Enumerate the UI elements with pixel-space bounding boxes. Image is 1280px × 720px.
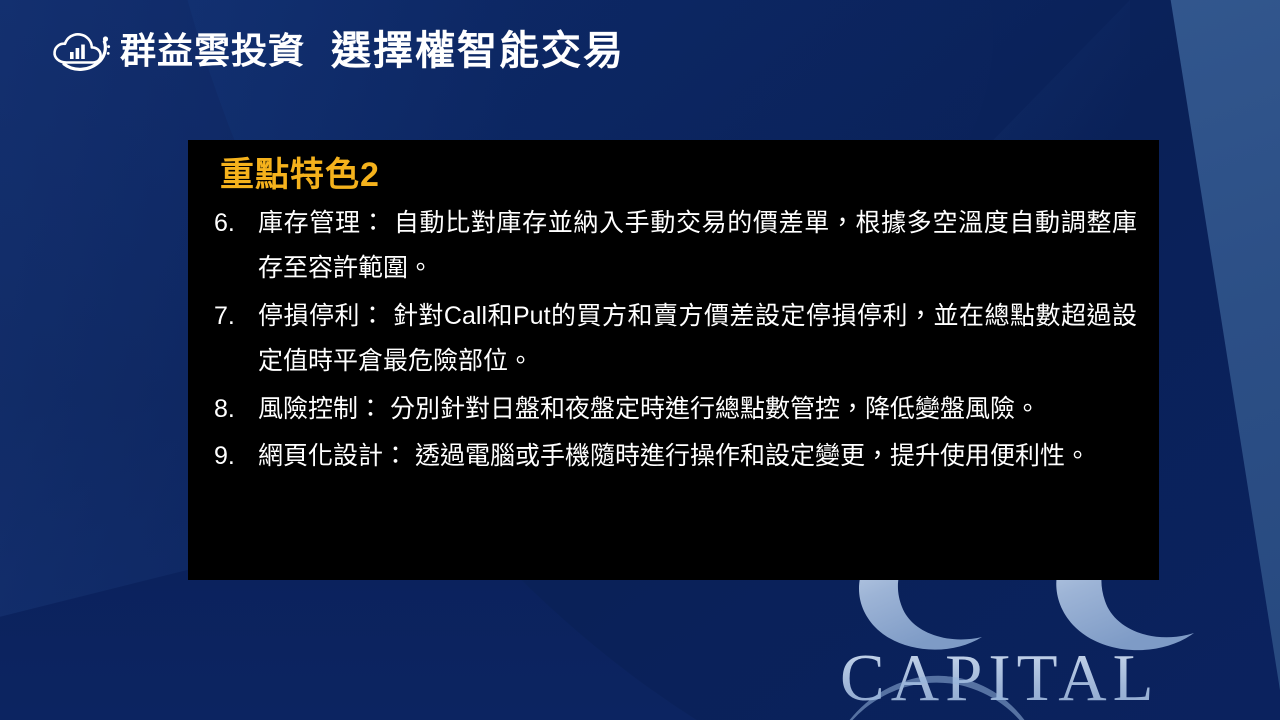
list-item-number: 9.: [206, 434, 258, 480]
card-title: 重點特色2: [220, 154, 1141, 197]
slide: CAPITAL 群益雲投資 選擇權智能交易 重點特色2 6. 庫存管理： 自動比…: [0, 0, 1280, 720]
list-item-text: 停損停利： 針對Call和Put的買方和賣方價差設定停損停利，並在總點數超過設定…: [258, 294, 1141, 385]
list-item: 7. 停損停利： 針對Call和Put的買方和賣方價差設定停損停利，並在總點數超…: [206, 294, 1141, 385]
page-title: 選擇權智能交易: [331, 31, 625, 71]
list-item-number: 8.: [206, 387, 258, 433]
header: 群益雲投資 選擇權智能交易: [52, 18, 625, 84]
feature-list: 6. 庫存管理： 自動比對庫存並納入手動交易的價差單，根據多空溫度自動調整庫存至…: [206, 201, 1141, 480]
list-item-text: 網頁化設計： 透過電腦或手機隨時進行操作和設定變更，提升使用便利性。: [258, 434, 1141, 480]
list-item: 8. 風險控制： 分別針對日盤和夜盤定時進行總點數管控，降低變盤風險。: [206, 387, 1141, 433]
list-item-number: 7.: [206, 294, 258, 340]
brand-name: 群益雲投資: [120, 33, 305, 69]
list-item: 9. 網頁化設計： 透過電腦或手機隨時進行操作和設定變更，提升使用便利性。: [206, 434, 1141, 480]
list-item-number: 6.: [206, 201, 258, 247]
list-item: 6. 庫存管理： 自動比對庫存並納入手動交易的價差單，根據多空溫度自動調整庫存至…: [206, 201, 1141, 292]
list-item-text: 庫存管理： 自動比對庫存並納入手動交易的價差單，根據多空溫度自動調整庫存至容許範…: [258, 201, 1141, 292]
list-item-text: 風險控制： 分別針對日盤和夜盤定時進行總點數管控，降低變盤風險。: [258, 387, 1141, 433]
cloud-chart-logo-icon: [52, 28, 112, 74]
feature-card: 重點特色2 6. 庫存管理： 自動比對庫存並納入手動交易的價差單，根據多空溫度自…: [188, 140, 1159, 580]
